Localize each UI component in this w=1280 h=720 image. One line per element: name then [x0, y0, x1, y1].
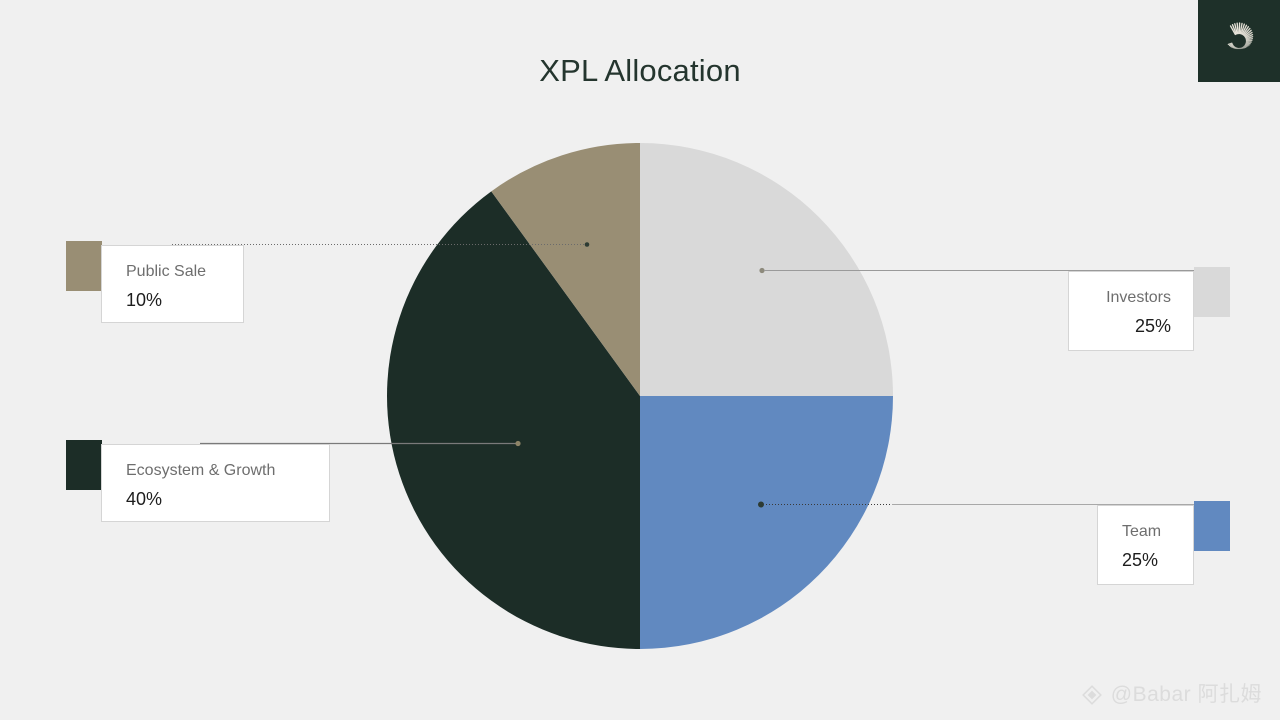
callout-team[interactable]: Team 25%	[1097, 505, 1194, 585]
diamond-logo-icon	[1080, 683, 1104, 707]
brand-logo	[1198, 0, 1280, 82]
pie-slice[interactable]	[640, 396, 893, 649]
slide-canvas: XPL Allocation	[0, 0, 1280, 720]
callout-investors[interactable]: Investors 25%	[1068, 271, 1194, 351]
radial-burst-icon	[1214, 16, 1264, 66]
page-title: XPL Allocation	[0, 50, 1280, 92]
callout-percent-value: 40%	[126, 485, 313, 513]
callout-percent-value: 25%	[1085, 312, 1171, 340]
pie-chart	[387, 143, 893, 649]
watermark: @Babar 阿扎姆	[1080, 682, 1262, 708]
callout-percent-value: 25%	[1122, 546, 1177, 574]
callout-category-label: Investors	[1085, 286, 1171, 310]
callout-public-sale[interactable]: Public Sale 10%	[101, 245, 244, 323]
swatch-investors	[1194, 267, 1230, 317]
callout-category-label: Team	[1122, 520, 1177, 544]
watermark-text: @Babar 阿扎姆	[1111, 682, 1262, 708]
swatch-public-sale	[66, 241, 102, 291]
swatch-team	[1194, 501, 1230, 551]
pie-slice[interactable]	[640, 143, 893, 396]
callout-category-label: Public Sale	[126, 260, 227, 284]
callout-ecosystem[interactable]: Ecosystem & Growth 40%	[101, 444, 330, 522]
swatch-ecosystem	[66, 440, 102, 490]
callout-category-label: Ecosystem & Growth	[126, 459, 313, 483]
callout-percent-value: 10%	[126, 286, 227, 314]
